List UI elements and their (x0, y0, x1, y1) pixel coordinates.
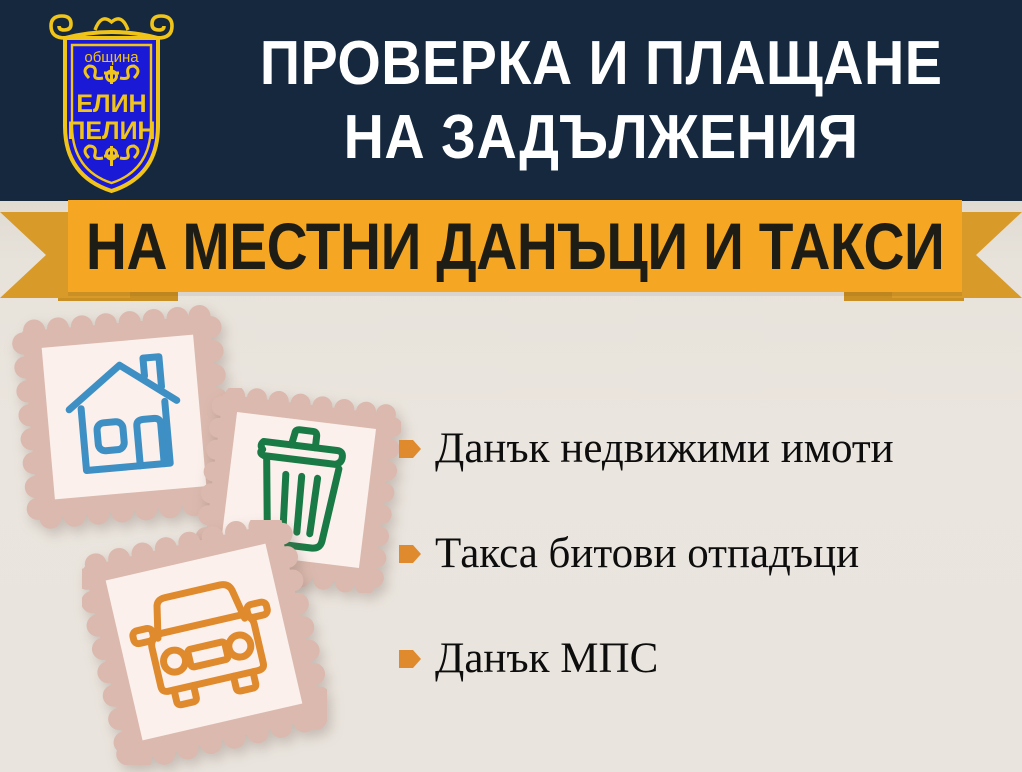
list-item-label: Данък МПС (435, 634, 658, 684)
header-bar: община ЕЛИН ПЕЛИН (0, 0, 1022, 201)
arrow-bullet-icon (398, 436, 422, 462)
obligations-list: Данък недвижими имоти Такса битови отпад… (398, 418, 1018, 733)
svg-text:ПЕЛИН: ПЕЛИН (67, 117, 155, 145)
header-title-line-2: НА ЗАДЪЛЖЕНИЯ (344, 101, 859, 175)
header-title: ПРОВЕРКА И ПЛАЩАНЕ НА ЗАДЪЛЖЕНИЯ (186, 16, 1016, 186)
poster-canvas: община ЕЛИН ПЕЛИН (0, 0, 1022, 772)
svg-text:ЕЛИН: ЕЛИН (76, 90, 146, 118)
header-title-line-1: ПРОВЕРКА И ПЛАЩАНЕ (260, 27, 943, 101)
list-item[interactable]: Данък МПС (398, 628, 1018, 690)
ribbon-banner: НА МЕСТНИ ДАНЪЦИ И ТАКСИ (0, 200, 1022, 310)
list-item-label: Данък недвижими имоти (435, 424, 894, 474)
list-item[interactable]: Данък недвижими имоти (398, 418, 1018, 480)
ribbon-panel: НА МЕСТНИ ДАНЪЦИ И ТАКСИ (68, 200, 962, 292)
svg-text:община: община (84, 49, 139, 66)
ribbon-text: НА МЕСТНИ ДАНЪЦИ И ТАКСИ (86, 213, 945, 279)
arrow-bullet-icon (398, 541, 422, 567)
list-item-label: Такса битови отпадъци (435, 529, 859, 579)
stamp-card-car (82, 520, 327, 765)
arrow-bullet-icon (398, 646, 422, 672)
municipality-logo: община ЕЛИН ПЕЛИН (43, 8, 180, 194)
list-item[interactable]: Такса битови отпадъци (398, 523, 1018, 585)
